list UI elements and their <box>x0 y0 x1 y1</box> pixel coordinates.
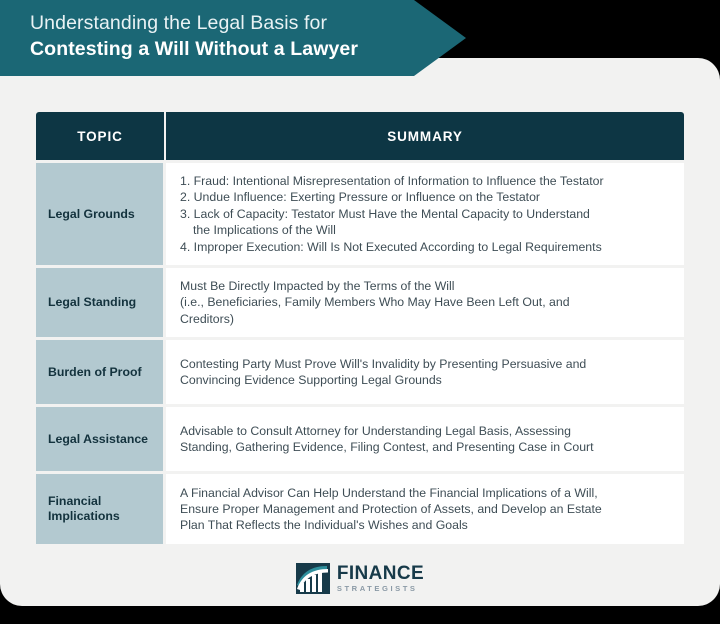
summary-line: Contesting Party Must Prove Will's Inval… <box>180 356 670 372</box>
summary-line: the Implications of the Will <box>180 222 670 238</box>
banner-title-line-1: Understanding the Legal Basis for <box>30 11 466 36</box>
infographic-root: Understanding the Legal Basis for Contes… <box>0 0 720 624</box>
footer-logo: FINANCE STRATEGISTS <box>0 563 720 594</box>
table-cell-summary: Advisable to Consult Attorney for Unders… <box>166 407 684 471</box>
table-row: Legal Grounds1. Fraud: Intentional Misre… <box>36 163 684 265</box>
table-header-topic: TOPIC <box>36 112 166 160</box>
table-cell-summary: Contesting Party Must Prove Will's Inval… <box>166 340 684 404</box>
summary-line: Plan That Reflects the Individual's Wish… <box>180 517 670 533</box>
summary-line: Ensure Proper Management and Protection … <box>180 501 670 517</box>
summary-line: A Financial Advisor Can Help Understand … <box>180 485 670 501</box>
summary-line: (i.e., Beneficiaries, Family Members Who… <box>180 294 670 310</box>
table-row: Legal AssistanceAdvisable to Consult Att… <box>36 407 684 471</box>
logo-brand-primary: FINANCE <box>337 564 424 583</box>
table-cell-topic: Legal Standing <box>36 268 166 337</box>
summary-line: 4. Improper Execution: Will Is Not Execu… <box>180 239 670 255</box>
summary-line: 2. Undue Influence: Exerting Pressure or… <box>180 189 670 205</box>
summary-line: Must Be Directly Impacted by the Terms o… <box>180 278 670 294</box>
table-header-row: TOPIC SUMMARY <box>36 112 684 160</box>
table-row: Financial ImplicationsA Financial Adviso… <box>36 474 684 544</box>
table-cell-summary: Must Be Directly Impacted by the Terms o… <box>166 268 684 337</box>
summary-line: Convincing Evidence Supporting Legal Gro… <box>180 372 670 388</box>
banner-title-line-2: Contesting a Will Without a Lawyer <box>30 36 466 62</box>
table-row: Legal StandingMust Be Directly Impacted … <box>36 268 684 337</box>
summary-line: 3. Lack of Capacity: Testator Must Have … <box>180 206 670 222</box>
comparison-table: TOPIC SUMMARY Legal Grounds1. Fraud: Int… <box>36 112 684 544</box>
table-cell-summary: A Financial Advisor Can Help Understand … <box>166 474 684 544</box>
table-cell-topic: Legal Grounds <box>36 163 166 265</box>
table-cell-topic: Legal Assistance <box>36 407 166 471</box>
table-header-summary: SUMMARY <box>166 112 684 160</box>
table-cell-summary: 1. Fraud: Intentional Misrepresentation … <box>166 163 684 265</box>
summary-line: 1. Fraud: Intentional Misrepresentation … <box>180 173 670 189</box>
logo-brand-secondary: STRATEGISTS <box>337 585 424 593</box>
summary-line: Advisable to Consult Attorney for Unders… <box>180 423 670 439</box>
table-body: Legal Grounds1. Fraud: Intentional Misre… <box>36 163 684 544</box>
logo-wordmark: FINANCE STRATEGISTS <box>337 564 424 593</box>
table-row: Burden of ProofContesting Party Must Pro… <box>36 340 684 404</box>
table-cell-topic: Financial Implications <box>36 474 166 544</box>
header-banner: Understanding the Legal Basis for Contes… <box>0 0 466 76</box>
table-cell-topic: Burden of Proof <box>36 340 166 404</box>
finance-strategists-logo-icon <box>296 563 330 594</box>
summary-line: Creditors) <box>180 311 670 327</box>
summary-line: Standing, Gathering Evidence, Filing Con… <box>180 439 670 455</box>
